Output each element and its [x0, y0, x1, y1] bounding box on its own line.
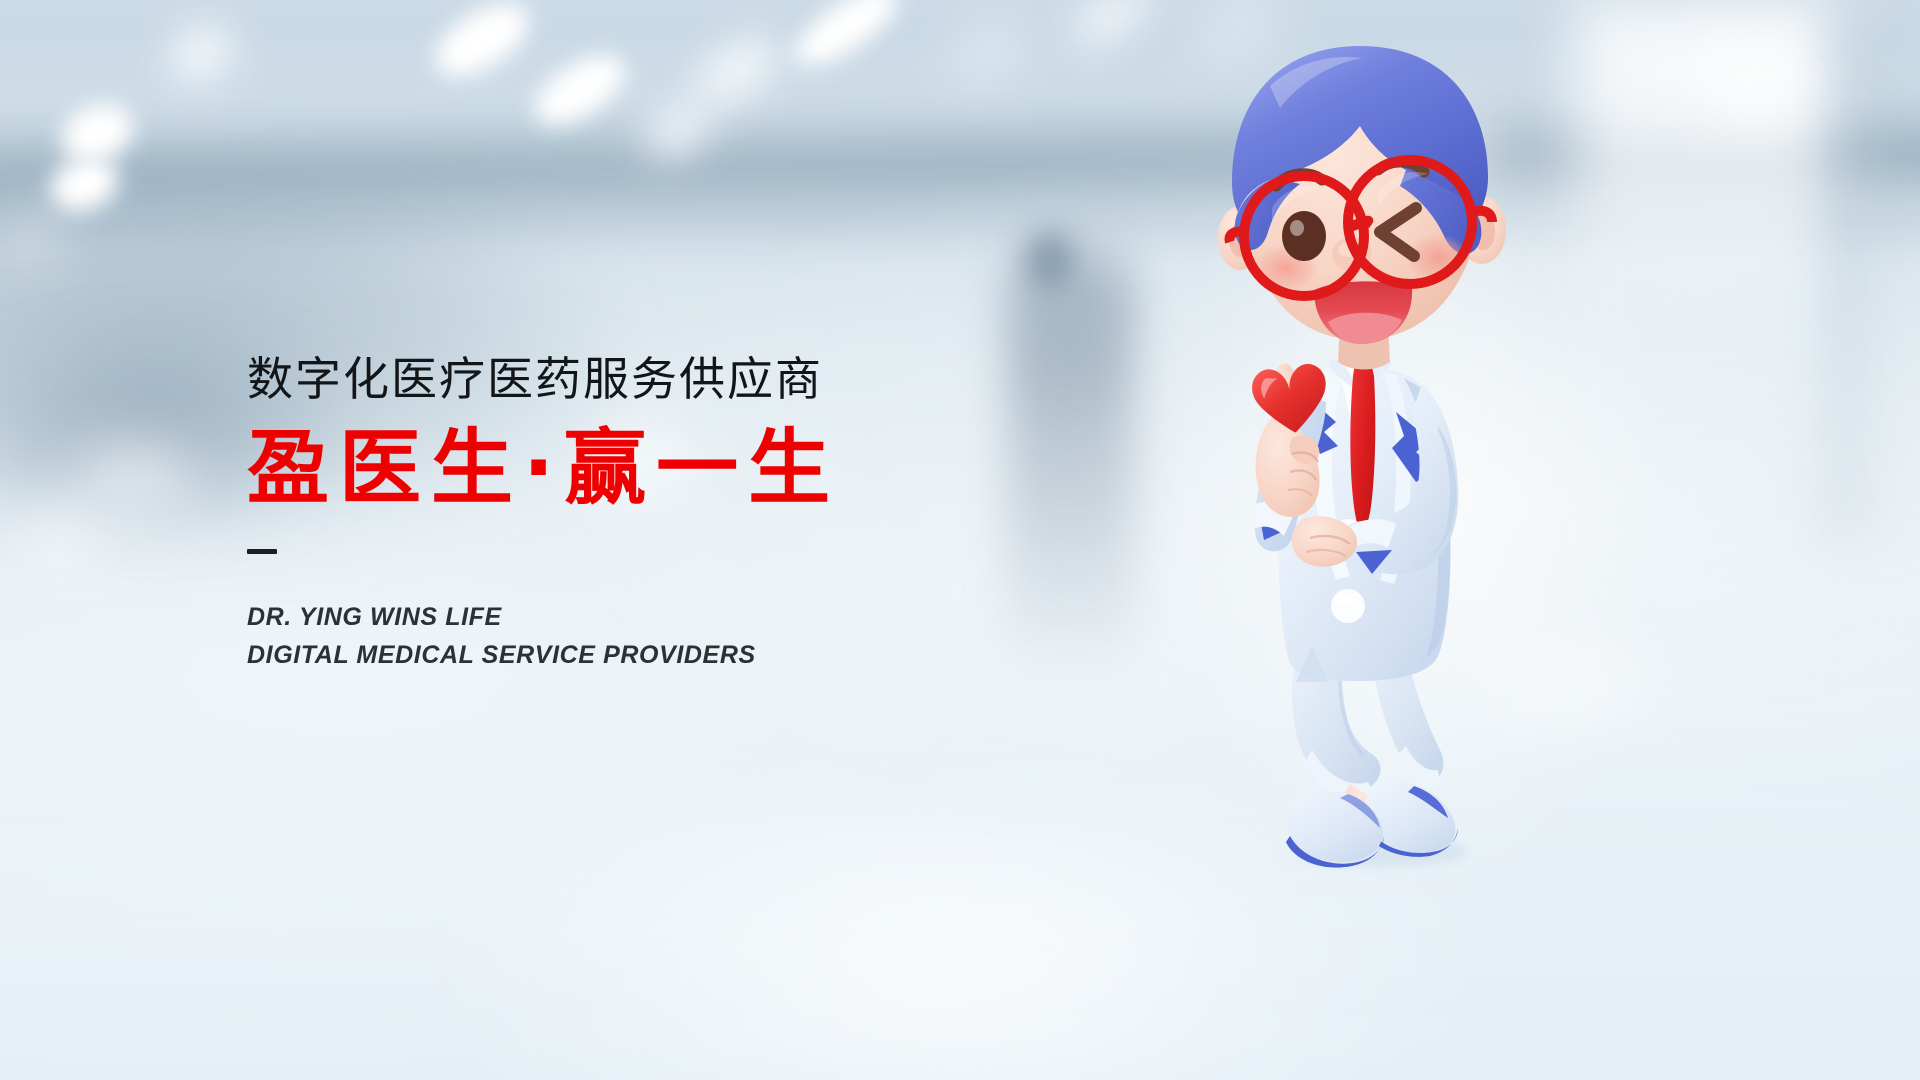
- hero-headline-chinese: 盈医生·赢一生: [247, 426, 1127, 511]
- mascot-tongue: [1328, 313, 1402, 344]
- hero-copy: 数字化医疗医药服务供应商 盈医生·赢一生 DR. YING WINS LIFE …: [247, 355, 1127, 674]
- mascot-coat-button-bottom: [1331, 589, 1365, 623]
- hero-english-line-1: DR. YING WINS LIFE: [247, 598, 1127, 636]
- bokeh-light: [1690, 32, 1824, 129]
- background-right-edge-shade: [1824, 22, 1920, 540]
- hero-banner: 数字化医疗医药服务供应商 盈医生·赢一生 DR. YING WINS LIFE …: [0, 0, 1920, 1080]
- mascot-doctor-character: [1200, 40, 1630, 1040]
- hero-english-lines: DR. YING WINS LIFE DIGITAL MEDICAL SERVI…: [247, 598, 1127, 674]
- mascot-eye-open: [1282, 211, 1326, 261]
- hero-english-line-2: DIGITAL MEDICAL SERVICE PROVIDERS: [247, 636, 1127, 674]
- bokeh-light: [19, 508, 103, 564]
- bokeh-light: [77, 443, 192, 508]
- hero-subtitle-chinese: 数字化医疗医药服务供应商: [247, 355, 1127, 404]
- hero-divider-rule: [247, 549, 277, 554]
